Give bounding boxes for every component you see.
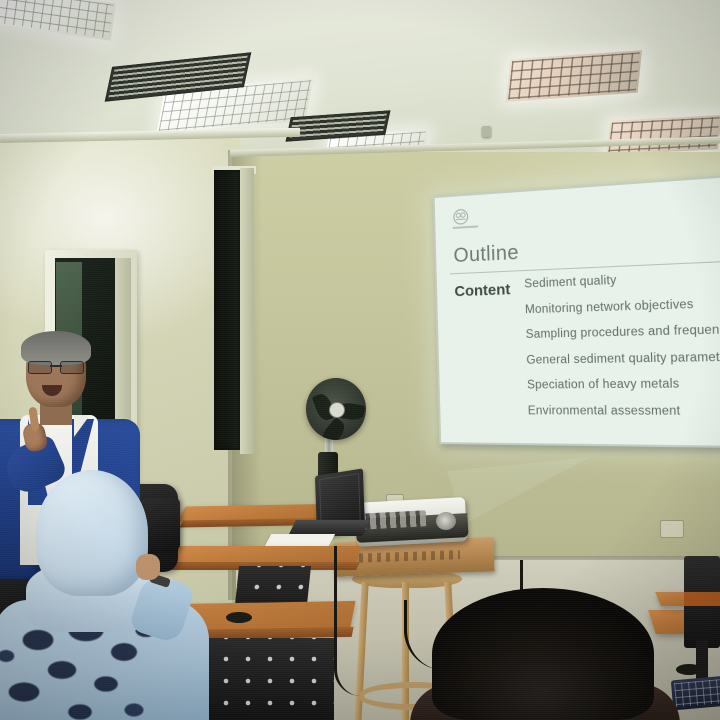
wall-socket-plate	[660, 520, 684, 538]
slide-body: Content Sediment quality Monitoring netw…	[454, 270, 720, 433]
presenter-hair	[21, 331, 91, 365]
wall-niche-edge	[240, 168, 254, 454]
seated-woman-in-hijab	[8, 470, 218, 720]
paper-sheet	[265, 534, 335, 546]
list-item: Sampling procedures and frequency	[526, 324, 720, 341]
desk-cable-grommet	[226, 612, 252, 623]
list-item: Speciation of heavy metals	[527, 378, 720, 392]
monitor-stand	[696, 640, 708, 680]
slide-content-label: Content	[454, 280, 514, 431]
slide-content: Outline Content Sediment quality Monitor…	[433, 174, 720, 449]
power-cable	[334, 546, 361, 696]
list-item: General sediment quality parameters	[526, 351, 720, 366]
wall-niche	[214, 170, 242, 450]
desktop-keyboard[interactable]	[671, 676, 720, 711]
list-item: Monitoring network objectives	[525, 297, 720, 316]
ceiling-light-panel	[606, 115, 720, 155]
list-item: Environmental assessment	[528, 405, 720, 418]
logo-underline	[453, 225, 478, 229]
ceiling-sprinkler	[482, 126, 491, 137]
foreground-man-back-of-head	[432, 588, 654, 720]
pedestal-fan	[306, 378, 366, 440]
monitor-accent-stripe	[684, 592, 720, 606]
list-item: Sediment quality	[524, 270, 720, 291]
organization-logo-icon	[452, 208, 469, 226]
foreground-man-hair	[432, 588, 654, 720]
hijab-headscarf	[36, 470, 148, 596]
slide-bullet-list: Sediment quality Monitoring network obje…	[524, 270, 720, 432]
projection-screen: Outline Content Sediment quality Monitor…	[433, 174, 720, 449]
shirt-collar-right	[74, 415, 90, 437]
fan-hub	[329, 402, 345, 418]
lecture-room-photo: Sa Mo Q Outline Content Sedi	[0, 0, 720, 720]
woman-hand	[136, 554, 160, 580]
eyeglasses-icon	[28, 361, 84, 372]
